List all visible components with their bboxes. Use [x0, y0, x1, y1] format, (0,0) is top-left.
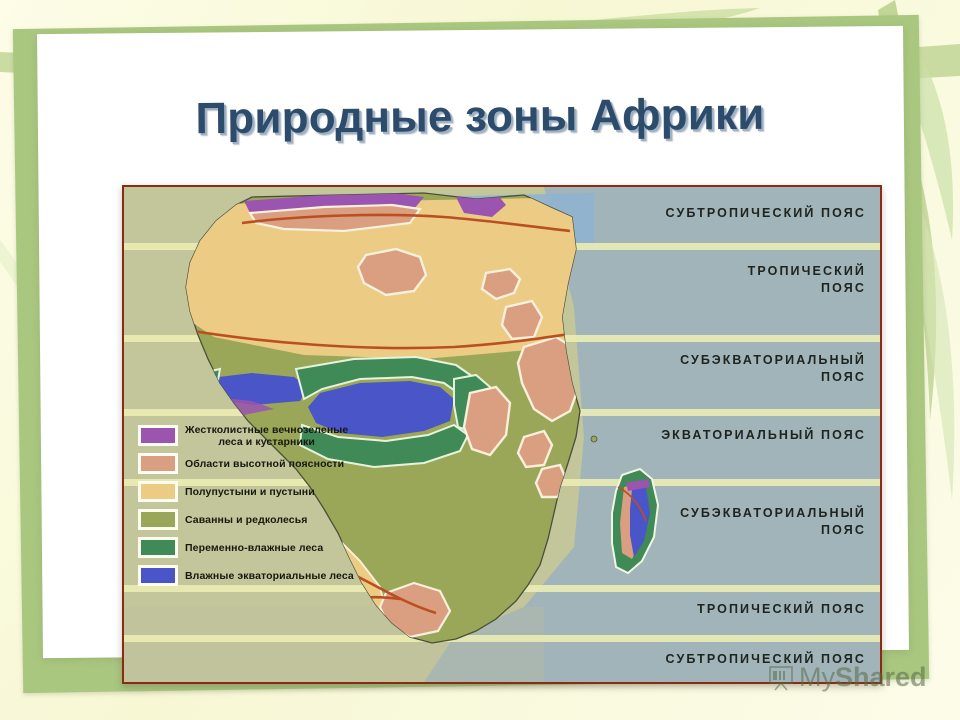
- belt-label: ТРОПИЧЕСКИЙ ПОЯС: [697, 601, 866, 618]
- legend-label: Влажные экваториальные леса: [185, 570, 354, 582]
- legend-label: Жестколистные вечнозеленые леса и кустар…: [185, 424, 348, 448]
- legend-item: Жестколистные вечнозеленые леса и кустар…: [138, 423, 398, 448]
- legend-swatch: [138, 509, 178, 530]
- myshared-watermark: MyShared: [768, 662, 927, 693]
- legend-swatch: [138, 425, 178, 446]
- legend-label: Саванны и редколесья: [185, 514, 308, 526]
- legend-item: Влажные экваториальные леса: [138, 563, 398, 588]
- legend-label: Области высотной поясности: [185, 458, 344, 470]
- legend-swatch: [138, 481, 178, 502]
- africa-natural-zones-map: СУБТРОПИЧЕСКИЙ ПОЯС ТРОПИЧЕСКИЙ ПОЯС СУБ…: [122, 185, 882, 684]
- watermark-text-bold: Shared: [835, 662, 927, 692]
- watermark-text-light: My: [799, 662, 835, 692]
- belt-label: СУБЭКВАТОРИАЛЬНЫЙ ПОЯС: [680, 505, 866, 539]
- legend-label: Переменно-влажные леса: [185, 542, 323, 554]
- slide-root: Природные зоны Африки: [0, 0, 960, 720]
- map-legend: Жестколистные вечнозеленые леса и кустар…: [138, 423, 398, 591]
- legend-item: Саванны и редколесья: [138, 507, 398, 532]
- page-title: Природные зоны Африки: [0, 88, 960, 146]
- legend-swatch: [138, 565, 178, 586]
- legend-label: Полупустыни и пустыни: [185, 486, 315, 498]
- belt-label: ЭКВАТОРИАЛЬНЫЙ ПОЯС: [661, 427, 866, 444]
- legend-item: Переменно-влажные леса: [138, 535, 398, 560]
- legend-swatch: [138, 453, 178, 474]
- grid-logo-icon: [768, 665, 794, 691]
- legend-swatch: [138, 537, 178, 558]
- belt-label: СУБЭКВАТОРИАЛЬНЫЙ ПОЯС: [680, 352, 866, 386]
- legend-item: Полупустыни и пустыни: [138, 479, 398, 504]
- legend-item: Области высотной поясности: [138, 451, 398, 476]
- belt-label: СУБТРОПИЧЕСКИЙ ПОЯС: [666, 205, 866, 222]
- belt-label: ТРОПИЧЕСКИЙ ПОЯС: [748, 263, 866, 297]
- watermark-text: MyShared: [799, 662, 927, 693]
